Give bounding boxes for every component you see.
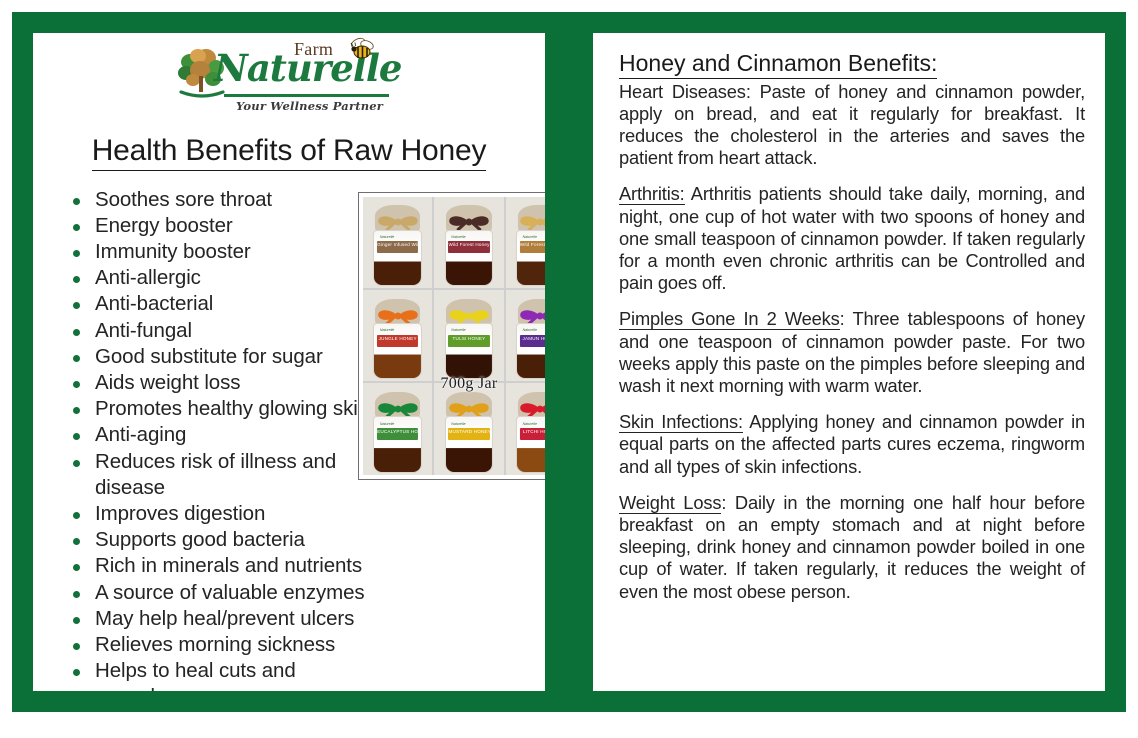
jar-photo-cell: NaturelleJAMUN HONEYNaturelleACACIA HONE… [506, 290, 545, 381]
jar-label: Wild Forest Honey with Infused Cinnamon [520, 241, 545, 253]
list-item: Anti-fungal [49, 318, 369, 344]
list-item: Anti-allergic [49, 265, 369, 291]
list-item: Promotes healthy glowing skin [49, 396, 369, 422]
product-photo: NaturelleGinger Infused Wild Forest Hone… [358, 192, 545, 480]
jar-label: MUSTARD HONEY [448, 428, 489, 440]
jar-photo-cell: NaturelleMUSTARD HONEY [434, 383, 503, 474]
benefits-paragraphs: Heart Diseases: Paste of honey and cinna… [619, 81, 1085, 603]
bullet-dot-icon [73, 564, 80, 571]
jar-body: NaturelleMUSTARD HONEY [445, 416, 494, 472]
list-item: Rich in minerals and nutrients [49, 553, 369, 579]
paragraph-lead: Pimples Gone In 2 Weeks [619, 308, 840, 330]
benefit-paragraph: Pimples Gone In 2 Weeks: Three tablespoo… [619, 308, 1085, 397]
bullet-dot-icon [73, 198, 80, 205]
jar-brand-mark: Naturelle [451, 328, 465, 332]
jar-photo-cell: NaturelleEUCALYPTUS HONEY [363, 383, 432, 474]
honey-jar: NaturelleMUSTARD HONEY [442, 392, 496, 472]
bullet-dot-icon [73, 538, 80, 545]
jar-body: NaturelleWild Forest Honey [445, 230, 494, 286]
jar-brand-mark: Naturelle [451, 422, 465, 426]
bullet-dot-icon [73, 407, 80, 414]
list-item: Good substitute for sugar [49, 344, 369, 370]
benefit-paragraph: Weight Loss: Daily in the morning one ha… [619, 492, 1085, 603]
jar-brand-mark: Naturelle [523, 422, 537, 426]
jar-body: NaturelleEUCALYPTUS HONEY [373, 416, 422, 472]
honey-jar: NaturelleJUNGLE HONEY [371, 299, 425, 379]
section-title: Honey and Cinnamon Benefits: [619, 50, 1085, 78]
jar-label: EUCALYPTUS HONEY [377, 428, 418, 440]
list-item: Supports good bacteria [49, 527, 369, 553]
bullet-dot-icon [73, 669, 80, 676]
benefit-paragraph: Arthritis: Arthritis patients should tak… [619, 183, 1085, 294]
jar-body: NaturelleWild Forest Honey with Infused … [516, 230, 545, 286]
left-panel: Farm Naturelle Your Wellness Partner Hea… [33, 33, 545, 691]
left-body: Soothes sore throat Energy booster Immun… [33, 187, 545, 692]
jar-brand-mark: Naturelle [380, 235, 394, 239]
jar-photo-cell: NaturelleWild Forest Honey [434, 197, 503, 288]
jar-photo-cell: NaturelleWild Forest Honey with Infused … [506, 197, 545, 288]
jar-label: JUNGLE HONEY [377, 335, 418, 347]
logo-underline [224, 94, 389, 97]
paragraph-lead: Skin Infections: [619, 411, 743, 433]
honey-jar: NaturelleWild Forest Honey with Infused … [513, 205, 545, 285]
honey-jar: NaturelleTULSI HONEY [442, 299, 496, 379]
jar-body: NaturelleGinger Infused Wild Forest Hone… [373, 230, 422, 286]
jar-photo-cell: NaturelleLITCHI HONEY [506, 383, 545, 474]
bullet-dot-icon [73, 276, 80, 283]
jar-body: NaturelleJUNGLE HONEY [373, 323, 422, 379]
paragraph-lead: Arthritis: [619, 183, 685, 205]
list-item: Improves digestion [49, 501, 369, 527]
bullet-dot-icon [73, 224, 80, 231]
bullet-dot-icon [73, 355, 80, 362]
honey-jar: NaturelleGinger Infused Wild Forest Hone… [371, 205, 425, 285]
list-item: Reduces risk of illness and disease [49, 449, 369, 501]
honey-jar: NaturelleLITCHI HONEY [513, 392, 545, 472]
bullet-dot-icon [73, 302, 80, 309]
list-item: Relieves morning sickness [49, 632, 369, 658]
list-item: Anti-aging [49, 422, 369, 448]
honey-jar: NaturelleJAMUN HONEY [513, 299, 545, 379]
bullet-dot-icon [73, 591, 80, 598]
list-item: Soothes sore throat [49, 187, 369, 213]
jar-brand-mark: Naturelle [523, 235, 537, 239]
logo-tagline: Your Wellness Partner [236, 99, 383, 113]
jar-photo-cell: NaturelleTULSI HONEY [434, 290, 503, 381]
jar-body: NaturelleJAMUN HONEY [516, 323, 545, 379]
bullet-dot-icon [73, 433, 80, 440]
jar-body: NaturelleLITCHI HONEY [516, 416, 545, 472]
paragraph-lead: Heart Diseases [619, 81, 746, 102]
jar-body: NaturelleTULSI HONEY [445, 323, 494, 379]
paragraph-lead: Weight Loss [619, 492, 721, 514]
honey-jar: NaturelleWild Forest Honey [442, 205, 496, 285]
jar-label: LITCHI HONEY [520, 428, 545, 440]
page-title: Health Benefits of Raw Honey [33, 134, 545, 173]
bullet-dot-icon [73, 250, 80, 257]
jar-label: JAMUN HONEY [520, 335, 545, 347]
jar-label: Ginger Infused Wild Forest Honey [377, 241, 418, 253]
list-item: Anti-bacterial [49, 291, 369, 317]
jar-label: TULSI HONEY [448, 335, 489, 347]
jar-brand-mark: Naturelle [380, 328, 394, 332]
list-item: Aids weight loss [49, 370, 369, 396]
bee-icon [346, 37, 376, 63]
benefits-list: Soothes sore throat Energy booster Immun… [33, 187, 369, 692]
jar-brand-mark: Naturelle [380, 422, 394, 426]
bullet-dot-icon [73, 617, 80, 624]
right-panel: Honey and Cinnamon Benefits: Heart Disea… [593, 33, 1105, 691]
bullet-dot-icon [73, 460, 80, 467]
jar-brand-mark: Naturelle [451, 235, 465, 239]
list-item: Energy booster [49, 213, 369, 239]
jar-brand-mark: Naturelle [523, 328, 537, 332]
poster-root: Farm Naturelle Your Wellness Partner Hea… [0, 0, 1138, 738]
jar-label: Wild Forest Honey [448, 241, 489, 253]
list-item: May help heal/prevent ulcers [49, 606, 369, 632]
honey-jar: NaturelleEUCALYPTUS HONEY [371, 392, 425, 472]
list-item: Helps to heal cuts and wounds [49, 658, 369, 691]
benefit-paragraph: Skin Infections: Applying honey and cinn… [619, 411, 1085, 478]
list-item: A source of valuable enzymes [49, 580, 369, 606]
bullet-dot-icon [73, 512, 80, 519]
bullet-dot-icon [73, 329, 80, 336]
benefit-paragraph: Heart Diseases: Paste of honey and cinna… [619, 81, 1085, 170]
list-item: Immunity booster [49, 239, 369, 265]
jar-collage: NaturelleGinger Infused Wild Forest Hone… [363, 197, 545, 475]
bullet-dot-icon [73, 643, 80, 650]
jar-photo-cell: NaturelleJUNGLE HONEY [363, 290, 432, 381]
jar-photo-cell: NaturelleGinger Infused Wild Forest Hone… [363, 197, 432, 288]
paragraph-body: Arthritis patients should take daily, mo… [619, 183, 1085, 293]
bullet-dot-icon [73, 381, 80, 388]
brand-logo: Farm Naturelle Your Wellness Partner [33, 35, 545, 132]
